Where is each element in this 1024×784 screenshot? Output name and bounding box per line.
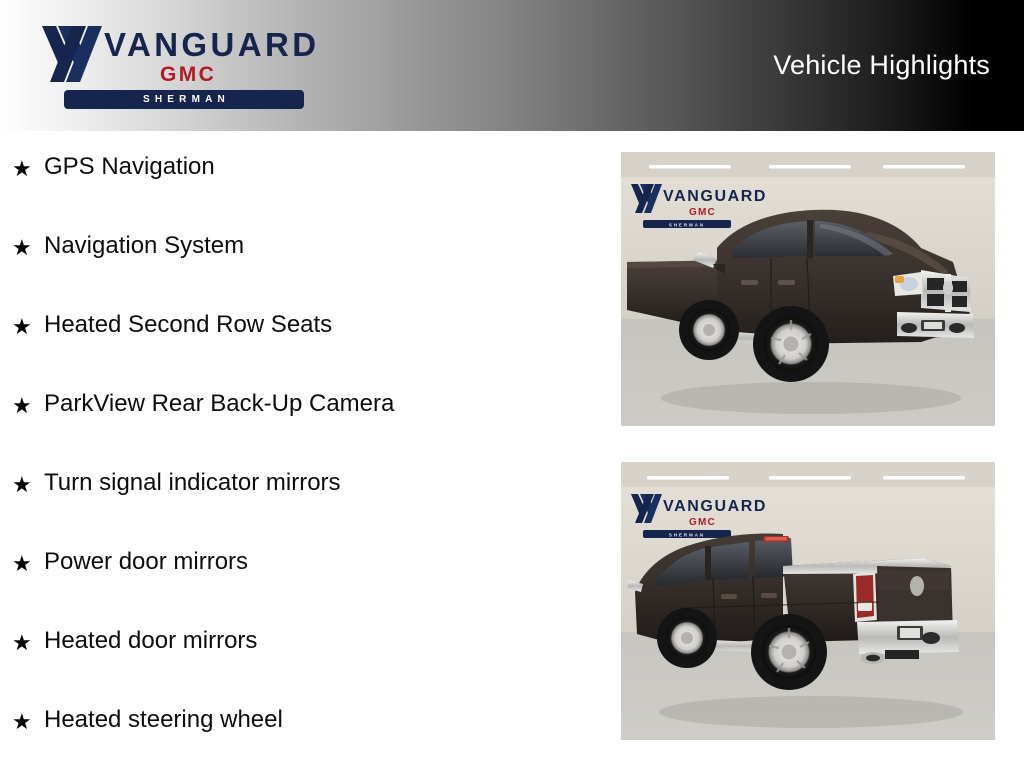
feature-label: ParkView Rear Back-Up Camera [44,389,394,419]
logo-wordmark: VANGUARD [104,28,319,61]
feature-label: Heated door mirrors [44,626,257,656]
vehicle-features-list: ★ GPS Navigation ★ Navigation System ★ H… [0,152,600,784]
feature-label: Turn signal indicator mirrors [44,468,341,498]
vehicle-rear-three-quarter-image: VANGUARD GMC SHERMAN [621,462,995,740]
list-item: ★ Navigation System [0,231,600,310]
vehicle-front-three-quarter-image: VANGUARD GMC SHERMAN [621,152,995,426]
list-item: ★ Heated steering wheel [0,705,600,784]
vehicle-rear-photo[interactable]: VANGUARD GMC SHERMAN [621,462,995,740]
logo-city-bar: SHERMAN [64,90,304,109]
logo-brand-gmc: GMC [160,64,216,85]
list-item: ★ Heated door mirrors [0,626,600,705]
dealer-logo: VANGUARD GMC SHERMAN [42,22,304,108]
vehicle-front-photo[interactable]: VANGUARD GMC SHERMAN [621,152,995,426]
list-item: ★ ParkView Rear Back-Up Camera [0,389,600,468]
list-item: ★ Turn signal indicator mirrors [0,468,600,547]
feature-label: Navigation System [44,231,244,261]
star-bullet-icon: ★ [12,395,32,417]
feature-label: Heated steering wheel [44,705,283,735]
vanguard-monogram-icon [42,24,106,84]
star-bullet-icon: ★ [12,316,32,338]
list-item: ★ GPS Navigation [0,152,600,231]
list-item: ★ Heated Second Row Seats [0,310,600,389]
star-bullet-icon: ★ [12,237,32,259]
star-bullet-icon: ★ [12,632,32,654]
logo-city-label: SHERMAN [64,90,304,109]
star-bullet-icon: ★ [12,711,32,733]
star-bullet-icon: ★ [12,474,32,496]
page-title: Vehicle Highlights [773,50,990,81]
feature-label: Power door mirrors [44,547,248,577]
feature-label: GPS Navigation [44,152,215,182]
list-item: ★ Power door mirrors [0,547,600,626]
feature-label: Heated Second Row Seats [44,310,332,340]
star-bullet-icon: ★ [12,553,32,575]
star-bullet-icon: ★ [12,158,32,180]
